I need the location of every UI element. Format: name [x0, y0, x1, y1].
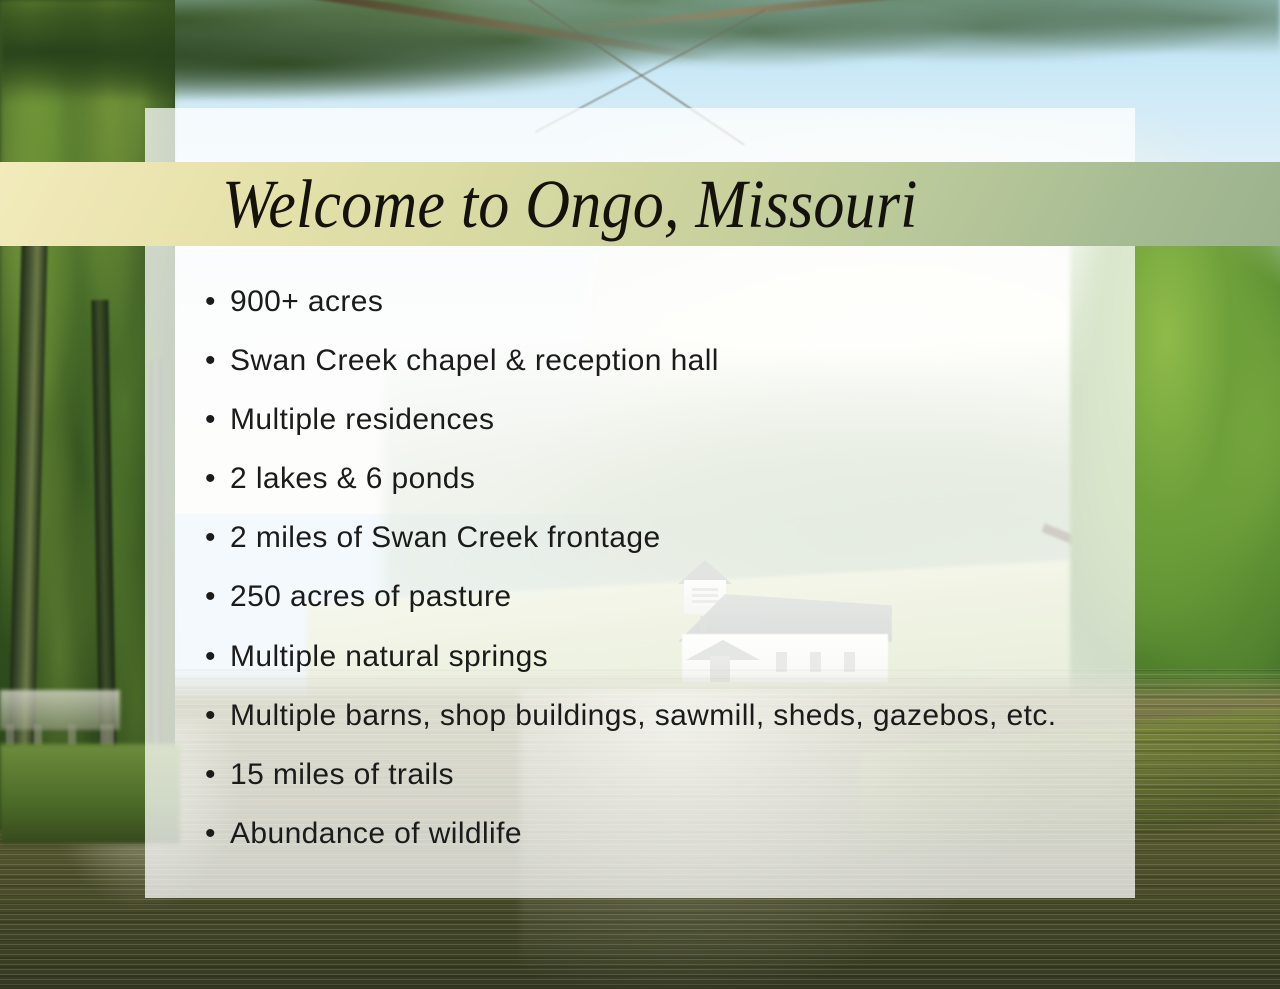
- presentation-slide: Welcome to Ongo, Missouri 900+ acres Swa…: [0, 0, 1280, 989]
- list-item: Swan Creek chapel & reception hall: [205, 343, 1085, 380]
- page-title: Welcome to Ongo, Missouri: [222, 170, 918, 239]
- left-bench-legs: [6, 724, 114, 746]
- list-item: Abundance of wildlife: [205, 816, 1085, 853]
- list-item: Multiple natural springs: [205, 639, 1085, 676]
- list-item: Multiple residences: [205, 402, 1085, 439]
- list-item: 900+ acres: [205, 284, 1085, 321]
- list-item: 250 acres of pasture: [205, 579, 1085, 616]
- list-item: 2 miles of Swan Creek frontage: [205, 520, 1085, 557]
- list-item: Multiple barns, shop buildings, sawmill,…: [205, 698, 1085, 735]
- list-item: 2 lakes & 6 ponds: [205, 461, 1085, 498]
- title-banner: Welcome to Ongo, Missouri: [0, 162, 1280, 246]
- feature-bullet-list: 900+ acres Swan Creek chapel & reception…: [205, 284, 1085, 875]
- list-item: 15 miles of trails: [205, 757, 1085, 794]
